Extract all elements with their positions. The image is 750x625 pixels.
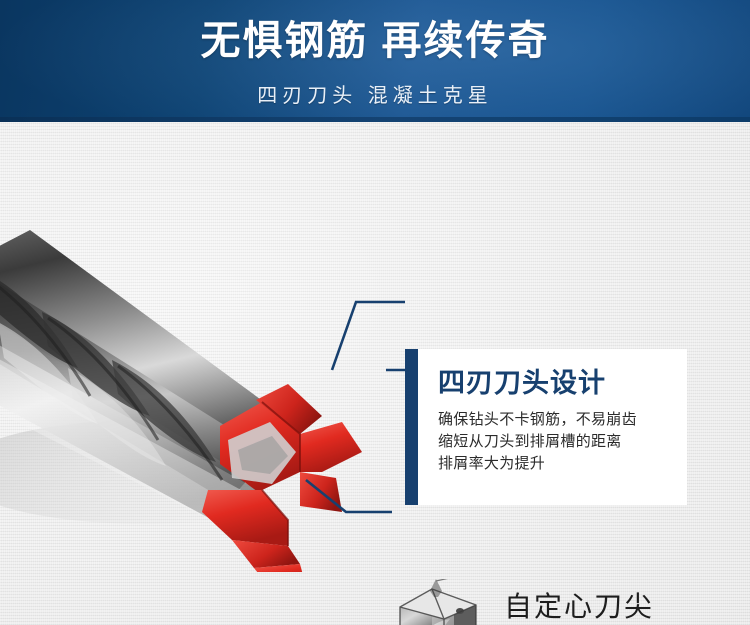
callout-main: 四刃刀头设计 确保钻头不卡钢筋，不易崩齿 缩短从刀头到排屑槽的距离 排屑率大为提… [405, 349, 687, 505]
callout-body-line-1: 确保钻头不卡钢筋，不易崩齿 [438, 409, 670, 431]
content-stage: 四刃刀头设计 确保钻头不卡钢筋，不易崩齿 缩短从刀头到排屑槽的距离 排屑率大为提… [0, 122, 750, 625]
banner-subtitle: 四刃刀头 混凝土克星 [0, 83, 750, 109]
callout-body-line-3: 排屑率大为提升 [438, 453, 670, 475]
drill-bit-illustration [0, 172, 400, 572]
callout-heading: 四刃刀头设计 [438, 366, 606, 400]
callout-body-line-2: 缩短从刀头到排屑槽的距离 [438, 431, 670, 453]
callout-accent-bar [405, 349, 418, 505]
drill-tip-icon [392, 579, 488, 625]
tip-heading: 自定心刀尖 [504, 590, 654, 624]
banner-title: 无惧钢筋 再续传奇 [0, 17, 750, 65]
callout-tip: 自定心刀尖 便于钻头稳定，顺畅的导入 [392, 577, 732, 625]
product-detail-image: 无惧钢筋 再续传奇 四刃刀头 混凝土克星 [0, 0, 750, 625]
callout-body: 确保钻头不卡钢筋，不易崩齿 缩短从刀头到排屑槽的距离 排屑率大为提升 [438, 409, 670, 475]
header-banner: 无惧钢筋 再续传奇 四刃刀头 混凝土克星 [0, 0, 750, 122]
